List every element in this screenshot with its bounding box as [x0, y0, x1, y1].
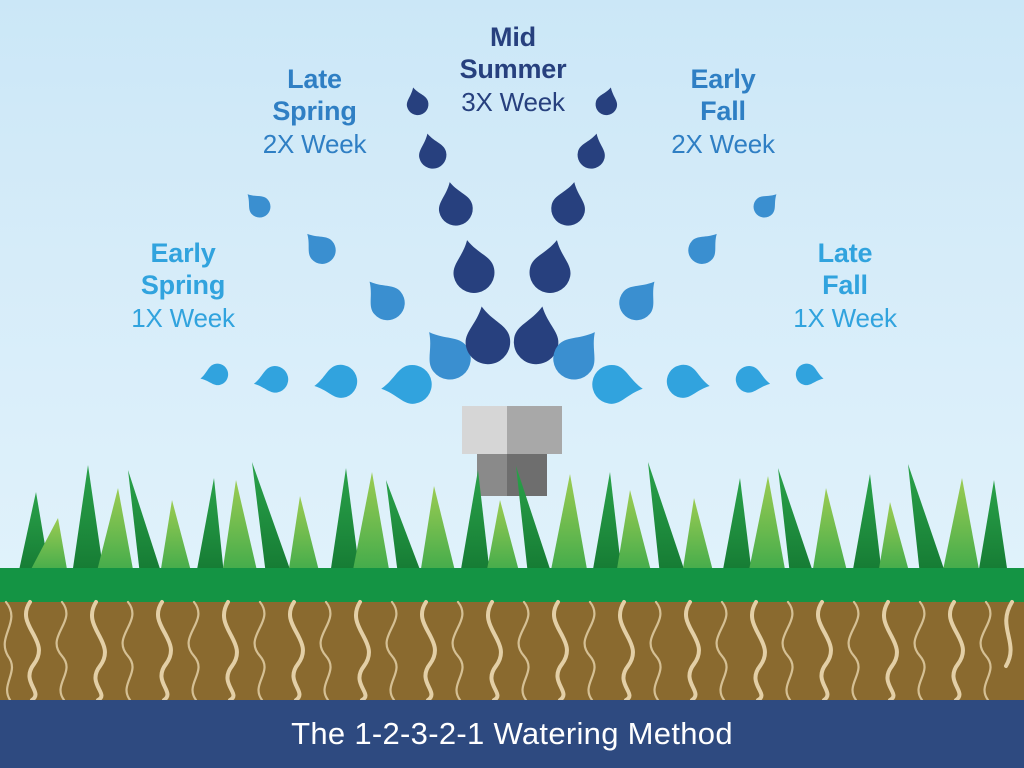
label-early-spring: Early Spring 1X Week [78, 238, 288, 333]
label-late-spring-season-line2: Spring [207, 96, 422, 128]
sod-strip [0, 568, 1024, 602]
label-mid-summer-frequency: 3X Week [418, 87, 608, 118]
label-late-fall-season-line2: Fall [740, 270, 950, 302]
label-late-spring-season-line1: Late [207, 64, 422, 96]
label-mid-summer: Mid Summer 3X Week [418, 22, 608, 117]
label-early-spring-frequency: 1X Week [78, 303, 288, 334]
label-late-fall-frequency: 1X Week [740, 303, 950, 334]
label-early-spring-season-line1: Early [78, 238, 288, 270]
label-early-spring-season-line2: Spring [78, 270, 288, 302]
label-early-fall: Early Fall 2X Week [618, 64, 828, 159]
label-late-spring-frequency: 2X Week [207, 129, 422, 160]
label-late-fall: Late Fall 1X Week [740, 238, 950, 333]
spray-arc-early-spring-left [198, 361, 434, 408]
soil-layer [0, 602, 1024, 700]
spray-arc-late-fall-right [590, 361, 826, 408]
label-late-spring: Late Spring 2X Week [207, 64, 422, 159]
infographic-title: The 1-2-3-2-1 Watering Method [291, 716, 733, 752]
label-late-fall-season-line1: Late [740, 238, 950, 270]
label-early-fall-frequency: 2X Week [618, 129, 828, 160]
label-mid-summer-season-line2: Summer [418, 54, 608, 86]
watering-method-infographic: Early Spring 1X Week Late Spring 2X Week… [0, 0, 1024, 768]
label-early-fall-season-line1: Early [618, 64, 828, 96]
spray-arc-mid-summer-right [510, 85, 621, 368]
label-early-fall-season-line2: Fall [618, 96, 828, 128]
title-bar: The 1-2-3-2-1 Watering Method [0, 700, 1024, 768]
label-mid-summer-season-line1: Mid [418, 22, 608, 54]
